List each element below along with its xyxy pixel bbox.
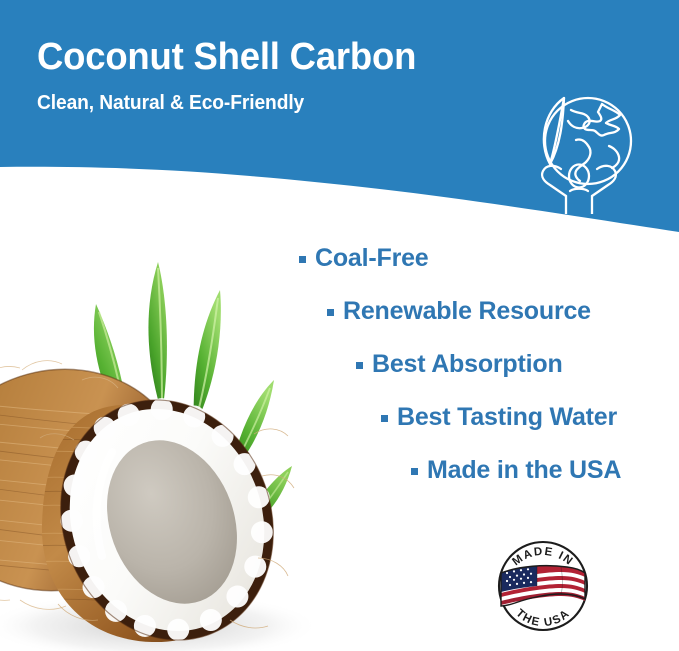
made-in-usa-badge: MADE IN THE USA <box>489 533 597 639</box>
benefits-list: Coal-Free Renewable Resource Best Absorp… <box>0 232 679 497</box>
benefit-label: Best Tasting Water <box>397 405 617 430</box>
benefit-item: Renewable Resource <box>0 285 679 338</box>
square-bullet-icon <box>411 468 418 475</box>
square-bullet-icon <box>381 415 388 422</box>
benefit-item: Coal-Free <box>0 232 679 285</box>
benefit-label: Renewable Resource <box>343 299 591 324</box>
benefit-label: Coal-Free <box>315 246 429 271</box>
square-bullet-icon <box>327 309 334 316</box>
benefit-item: Best Tasting Water <box>0 391 679 444</box>
benefit-label: Best Absorption <box>372 352 563 377</box>
benefit-label: Made in the USA <box>427 458 621 483</box>
product-feature-poster: Coconut Shell Carbon Clean, Natural & Ec… <box>0 0 679 651</box>
globe-leaf-hands-icon <box>516 88 642 214</box>
benefit-item: Best Absorption <box>0 338 679 391</box>
square-bullet-icon <box>356 362 363 369</box>
square-bullet-icon <box>299 256 306 263</box>
benefit-item: Made in the USA <box>0 444 679 497</box>
